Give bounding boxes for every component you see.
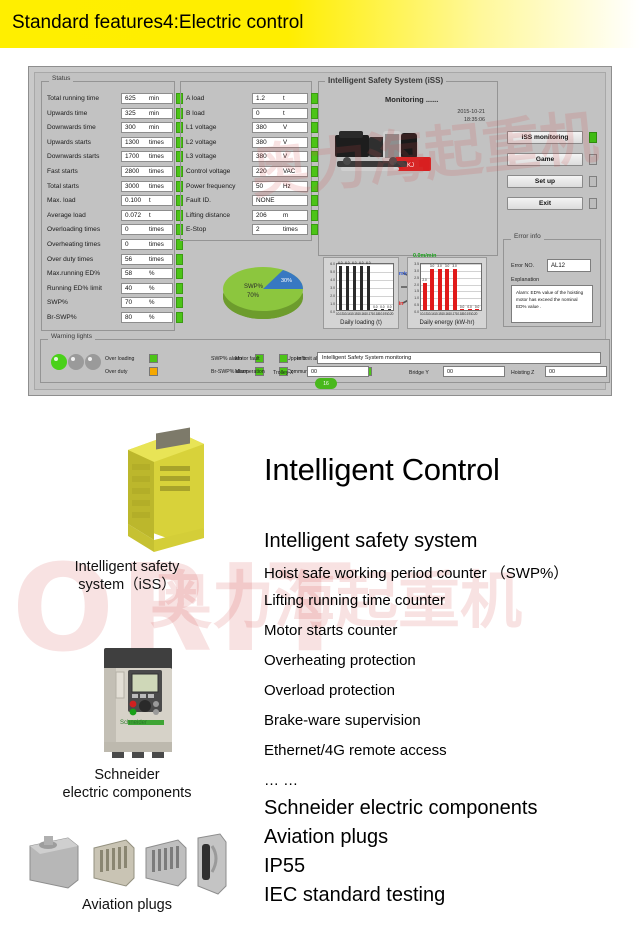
electrical-row: Fault ID.NONE bbox=[186, 193, 318, 208]
y-axis-tick: 2.0 bbox=[326, 294, 335, 298]
status-row-value: 3000 bbox=[122, 183, 139, 190]
status-row: Total running time625min bbox=[47, 91, 183, 106]
status-row-value: 58 bbox=[122, 270, 132, 277]
status-row: Total starts3000times bbox=[47, 179, 183, 194]
status-row-unit: min bbox=[149, 124, 159, 131]
iss-module-image bbox=[108, 420, 218, 565]
electrical-row: Lifting distance206m bbox=[186, 208, 318, 223]
bar: 0.0 bbox=[468, 309, 472, 310]
bar: 3.0 bbox=[430, 269, 434, 310]
daily-loading-plot: 6.05.04.03.02.01.00.06.06.06.06.06.00.00… bbox=[336, 263, 394, 311]
status-row-label: Running ED% limit bbox=[47, 285, 121, 292]
electrical-row-label: A load bbox=[186, 95, 252, 102]
y-axis-tick: 0.0 bbox=[410, 310, 419, 314]
y-axis-tick: 1.0 bbox=[410, 296, 419, 300]
bar-value-label: 0.0 bbox=[475, 305, 479, 309]
electrical-row-label: E-Stop bbox=[186, 226, 252, 233]
y-axis-tick: 3.0 bbox=[410, 269, 419, 273]
status-row-label: Overloading times bbox=[47, 226, 121, 233]
status-row: Downwards starts1700times bbox=[47, 149, 183, 164]
status-row-value: 1300 bbox=[122, 139, 139, 146]
status-row-field[interactable]: 0.100t bbox=[121, 195, 173, 206]
daily-loading-chart: 6.05.04.03.02.01.00.06.06.06.06.06.00.00… bbox=[323, 257, 399, 329]
iss-button-led bbox=[589, 154, 597, 165]
feature-item: … … bbox=[264, 772, 298, 789]
status-row-unit: t bbox=[149, 212, 151, 219]
status-pill: 16 bbox=[315, 378, 337, 389]
electrical-row-unit: times bbox=[283, 226, 298, 233]
status-row: Max.running ED%58% bbox=[47, 266, 183, 281]
y-axis-tick: 2.5 bbox=[410, 276, 419, 280]
iss-button-led bbox=[589, 176, 597, 187]
electrical-row-led bbox=[311, 93, 318, 104]
status-row-led bbox=[176, 283, 183, 294]
bar-value-label: 3.0 bbox=[445, 264, 449, 268]
status-row-field[interactable]: 3000times bbox=[121, 181, 173, 192]
bar: 0.0 bbox=[460, 309, 464, 310]
electrical-row-led bbox=[311, 210, 318, 221]
aviation-plugs-image bbox=[22, 828, 232, 900]
electrical-row: L2 voltage380V bbox=[186, 135, 318, 150]
coordinate-field[interactable]: 00 bbox=[443, 366, 505, 377]
coordinate-label: Hoisting Z bbox=[511, 370, 534, 376]
status-row: Br-SWP%80% bbox=[47, 310, 183, 325]
status-row-label: Average load bbox=[47, 212, 121, 219]
daily-loading-xticks: 10-1310-1410-1510-1610-1710-1810-1910-20 bbox=[336, 312, 393, 316]
status-row-label: SWP% bbox=[47, 299, 121, 306]
y-axis-tick: 3.0 bbox=[326, 286, 335, 290]
electrical-row-unit: VAC bbox=[283, 168, 295, 175]
y-axis-tick: 0.0 bbox=[326, 310, 335, 314]
bar: 3.0 bbox=[445, 269, 449, 310]
status-row-label: Downwards time bbox=[47, 124, 121, 131]
electrical-row-label: Control voltage bbox=[186, 168, 252, 175]
hmi-screenshot-panel: Status Total running time625minUpwards t… bbox=[28, 66, 612, 396]
electrical-row-label: B load bbox=[186, 110, 252, 117]
error-no-label: Error NO. bbox=[511, 263, 534, 269]
closing-item: Aviation plugs bbox=[264, 826, 388, 849]
status-row-field[interactable]: 325min bbox=[121, 108, 173, 119]
status-row-value: 0.100 bbox=[122, 197, 141, 204]
bar: 6.0 bbox=[353, 266, 357, 310]
svg-text:70%: 70% bbox=[247, 293, 260, 299]
bar-value-label: 3.0 bbox=[430, 264, 434, 268]
status-row-value: 625 bbox=[122, 95, 136, 102]
electrical-row-label: Lifting distance bbox=[186, 212, 252, 219]
status-row-field[interactable]: 56times bbox=[121, 254, 173, 265]
electrical-row-led bbox=[311, 181, 318, 192]
feature-item: Lifting running time counter bbox=[264, 592, 445, 609]
feature-item: Overheating protection bbox=[264, 652, 416, 669]
status-row: Upwards time325min bbox=[47, 106, 183, 121]
warning-indicator-led bbox=[279, 354, 288, 363]
status-row-unit: times bbox=[149, 226, 164, 233]
electrical-row-value: 1.2 bbox=[253, 95, 265, 102]
warning-lamp bbox=[68, 354, 84, 370]
status-row-value: 1700 bbox=[122, 153, 139, 160]
bar-value-label: 0.0 bbox=[460, 305, 464, 309]
warning-indicator-label: Motor fault bbox=[235, 356, 260, 362]
svg-text:KJ: KJ bbox=[407, 163, 414, 169]
status-row-field[interactable]: 40% bbox=[121, 283, 173, 294]
warning-lights-bar: Warning lights Over loadingOver dutySWP%… bbox=[40, 339, 610, 383]
status-row-label: Over duty times bbox=[47, 256, 121, 263]
status-row-value: 2800 bbox=[122, 168, 139, 175]
bar: 6.0 bbox=[360, 266, 364, 310]
status-row-label: Max. load bbox=[47, 197, 121, 204]
electrical-row-unit: V bbox=[283, 124, 287, 131]
warning-indicator-led bbox=[149, 367, 158, 376]
closing-item: IP55 bbox=[264, 855, 305, 878]
iss-button-led bbox=[589, 198, 597, 209]
svg-text:30%: 30% bbox=[281, 278, 292, 284]
status-row-led bbox=[176, 312, 183, 323]
bar: 6.0 bbox=[367, 266, 371, 310]
schneider-caption-line1: Schneider bbox=[22, 766, 232, 784]
warning-indicator-label: Misoperation bbox=[235, 369, 265, 375]
schneider-vfd-image: Schneider bbox=[98, 642, 184, 760]
closing-item: IEC standard testing bbox=[264, 884, 445, 907]
y-axis-tick: 5.0 bbox=[326, 270, 335, 274]
iss-caption-line1: Intelligent safety bbox=[22, 558, 232, 576]
status-row-value: 0 bbox=[122, 241, 129, 248]
swp-pie-chart: SWP% 70% 30% bbox=[211, 255, 315, 327]
iss-button-iss-monitoring[interactable]: iSS monitoring bbox=[507, 131, 583, 144]
iss-title: Intelligent Safety System (iSS) bbox=[325, 76, 446, 85]
electrical-row-label: Fault ID. bbox=[186, 197, 252, 204]
electrical-row-value: 380 bbox=[253, 153, 267, 160]
electrical-row-led bbox=[311, 166, 318, 177]
error-explanation-text: Alarm: ED% value of the hoisting motor h… bbox=[511, 285, 593, 323]
iss-button-led bbox=[589, 132, 597, 143]
status-row-label: Fast starts bbox=[47, 168, 121, 175]
y-axis-tick: 1.5 bbox=[410, 289, 419, 293]
warning-indicator-led bbox=[149, 354, 158, 363]
status-row-label: Max.running ED% bbox=[47, 270, 121, 277]
electrical-row-led bbox=[311, 122, 318, 133]
bar-value-label: 3.0 bbox=[437, 264, 441, 268]
bar-value-label: 6.0 bbox=[338, 261, 342, 265]
electrical-row-field[interactable]: 2times bbox=[252, 224, 308, 235]
electrical-row-label: Power frequency bbox=[186, 183, 252, 190]
status-row-value: 0 bbox=[122, 226, 129, 233]
status-row-unit: times bbox=[149, 168, 164, 175]
coordinate-label: Trolley X bbox=[273, 370, 293, 376]
status-row-field[interactable]: 0times bbox=[121, 224, 173, 235]
status-row-field[interactable]: 1300times bbox=[121, 137, 173, 148]
feature-item: Ethernet/4G remote access bbox=[264, 742, 447, 759]
electrical-row-field[interactable]: 380V bbox=[252, 151, 308, 162]
iss-date: 2015-10-21 bbox=[415, 109, 485, 115]
electrical-row-value: 220 bbox=[253, 168, 267, 175]
iss-caption: Intelligent safety system（iSS） bbox=[22, 558, 232, 594]
electrical-row-unit: t bbox=[283, 95, 285, 102]
feature-item: Motor starts counter bbox=[264, 622, 397, 639]
status-row-unit: times bbox=[149, 139, 164, 146]
bar-value-label: 6.0 bbox=[352, 261, 356, 265]
status-row-unit: t bbox=[149, 197, 151, 204]
electrical-row-field[interactable]: 206m bbox=[252, 210, 308, 221]
bar: 6.0 bbox=[346, 266, 350, 310]
status-row-led bbox=[176, 297, 183, 308]
iss-button-game[interactable]: Game bbox=[507, 153, 583, 166]
aviation-plugs-caption-line1: Aviation plugs bbox=[22, 896, 232, 914]
electrical-row: Control voltage220VAC bbox=[186, 164, 318, 179]
status-row-field[interactable]: 0times bbox=[121, 239, 173, 250]
status-row-value: 325 bbox=[122, 110, 136, 117]
electrical-row-label: L1 voltage bbox=[186, 124, 252, 131]
electrical-row-value: 380 bbox=[253, 124, 267, 131]
y-axis-tick: 1.0 bbox=[326, 302, 335, 306]
status-row-value: 56 bbox=[122, 256, 132, 263]
svg-text:Schneider: Schneider bbox=[120, 720, 147, 726]
coordinate-label: Bridge Y bbox=[409, 370, 429, 376]
status-row-label: Total running time bbox=[47, 95, 121, 102]
status-row-unit: times bbox=[149, 256, 164, 263]
bar: 0.0 bbox=[374, 309, 378, 310]
bar: 2.0 bbox=[423, 283, 427, 310]
bar: 0.0 bbox=[475, 309, 479, 310]
status-row-unit: % bbox=[149, 299, 155, 306]
status-row: Overloading times0times bbox=[47, 222, 183, 237]
bar: 0.0 bbox=[388, 309, 392, 310]
daily-energy-caption: Daily energy (kW-hr) bbox=[408, 320, 486, 326]
electrical-row-led bbox=[311, 137, 318, 148]
status-row-value: 40 bbox=[122, 285, 132, 292]
title-banner: Standard features4:Electric control bbox=[0, 0, 640, 48]
status-row-label: Br-SWP% bbox=[47, 314, 121, 321]
bar-value-label: 6.0 bbox=[345, 261, 349, 265]
status-row: Average load0.072t bbox=[47, 208, 183, 223]
bar-value-label: 0.0 bbox=[387, 305, 391, 309]
electrical-row-field[interactable]: 0t bbox=[252, 108, 308, 119]
electrical-row-value: NONE bbox=[253, 197, 274, 204]
warning-indicator-label: Over duty bbox=[105, 369, 128, 375]
status-row-unit: times bbox=[149, 153, 164, 160]
status-row-unit: % bbox=[149, 285, 155, 292]
y-axis-tick: 6.0 bbox=[326, 262, 335, 266]
status-row-field[interactable]: 0.072t bbox=[121, 210, 173, 221]
status-row: Upwards starts1300times bbox=[47, 135, 183, 150]
status-row-field[interactable]: 2800times bbox=[121, 166, 173, 177]
coordinate-field[interactable]: 00 bbox=[307, 366, 369, 377]
electrical-row-unit: m bbox=[283, 212, 288, 219]
status-row-value: 300 bbox=[122, 124, 136, 131]
error-explanation-label: Explanation bbox=[511, 277, 539, 283]
status-row-unit: % bbox=[149, 270, 155, 277]
electrical-row-unit: V bbox=[283, 139, 287, 146]
electrical-row-field[interactable]: 50Hz bbox=[252, 181, 308, 192]
content-heading: Intelligent Control bbox=[264, 452, 500, 488]
status-row-label: Upwards time bbox=[47, 110, 121, 117]
electrical-row: A load1.2t bbox=[186, 91, 318, 106]
daily-energy-plot: 3.53.02.52.01.51.00.50.02.03.03.03.03.00… bbox=[420, 263, 482, 311]
closing-item: Schneider electric components bbox=[264, 797, 537, 820]
feature-item: Brake-ware supervision bbox=[264, 712, 421, 729]
feature-item: Hoist safe working period counter （SWP%） bbox=[264, 562, 568, 583]
electrical-row-led bbox=[311, 224, 318, 235]
status-row-unit: min bbox=[149, 95, 159, 102]
schneider-caption: Schneider electric components bbox=[22, 766, 232, 802]
svg-text:SWP%: SWP% bbox=[244, 284, 264, 290]
bar-value-label: 3.0 bbox=[452, 264, 456, 268]
electrical-row: Power frequency50Hz bbox=[186, 179, 318, 194]
electrical-row-led bbox=[311, 108, 318, 119]
status-row: SWP%70% bbox=[47, 295, 183, 310]
iss-caption-line2: system（iSS） bbox=[22, 576, 232, 594]
electrical-row: B load0t bbox=[186, 106, 318, 121]
bar: 3.0 bbox=[453, 269, 457, 310]
status-row-label: Upwards starts bbox=[47, 139, 121, 146]
warning-lamp bbox=[51, 354, 67, 370]
daily-energy-chart: 3.53.02.52.01.51.00.50.02.03.03.03.03.00… bbox=[407, 257, 487, 329]
y-axis-tick: 0.5 bbox=[410, 303, 419, 307]
status-row-value: 0.072 bbox=[122, 212, 141, 219]
electrical-row-label: L3 voltage bbox=[186, 153, 252, 160]
status-row-unit: min bbox=[149, 110, 159, 117]
bar: 0.0 bbox=[381, 309, 385, 310]
electrical-row-unit: t bbox=[283, 110, 285, 117]
status-row-unit: % bbox=[149, 314, 155, 321]
warning-lights-legend: Warning lights bbox=[48, 333, 95, 340]
bar: 6.0 bbox=[339, 266, 343, 310]
section-title: Intelligent safety system bbox=[264, 530, 477, 553]
electrical-row-value: 380 bbox=[253, 139, 267, 146]
status-row-field[interactable]: 80% bbox=[121, 312, 173, 323]
status-row: Downwards time300min bbox=[47, 120, 183, 135]
daily-energy-xticks: 10-1310-1410-1510-1610-1710-1810-1910-20 bbox=[420, 312, 477, 316]
status-row: Over duty times56times bbox=[47, 252, 183, 267]
error-no-value[interactable]: AL12 bbox=[547, 259, 591, 272]
bar-value-label: 0.0 bbox=[373, 305, 377, 309]
coordinate-field[interactable]: 00 bbox=[545, 366, 607, 377]
electrical-row-unit: Hz bbox=[283, 183, 291, 190]
bar-value-label: 0.0 bbox=[467, 305, 471, 309]
y-axis-tick: 3.5 bbox=[410, 262, 419, 266]
info-value-field[interactable]: Intelligent Safety System monitoring bbox=[317, 352, 601, 364]
status-row-field[interactable]: 58% bbox=[121, 268, 173, 279]
status-row-value: 80 bbox=[122, 314, 132, 321]
electrical-row-value: 0 bbox=[253, 110, 260, 117]
electrical-row-field[interactable]: 220VAC bbox=[252, 166, 308, 177]
electrical-row: L3 voltage380V bbox=[186, 149, 318, 164]
iss-button-set-up[interactable]: Set up bbox=[507, 175, 583, 188]
electrical-row-led bbox=[311, 151, 318, 162]
iss-button-exit[interactable]: Exit bbox=[507, 197, 583, 210]
status-row: Running ED% limit40% bbox=[47, 281, 183, 296]
hmi-inner-frame: Status Total running time625minUpwards t… bbox=[34, 72, 606, 390]
error-info-legend: Error info bbox=[511, 233, 544, 240]
schneider-caption-line2: electric components bbox=[22, 784, 232, 802]
status-row-label: Total starts bbox=[47, 183, 121, 190]
status-row-field[interactable]: 300min bbox=[121, 122, 173, 133]
warning-indicator-label: Over loading bbox=[105, 356, 134, 362]
status-row: Fast starts2800times bbox=[47, 164, 183, 179]
status-row-field[interactable]: 70% bbox=[121, 297, 173, 308]
page-title: Standard features4:Electric control bbox=[12, 12, 304, 34]
electrical-row: E-Stop2times bbox=[186, 222, 318, 237]
electrical-row-value: 206 bbox=[253, 212, 267, 219]
status-row-field[interactable]: 625min bbox=[121, 93, 173, 104]
status-row-led bbox=[176, 254, 183, 265]
electrical-row-field[interactable]: 1.2t bbox=[252, 93, 308, 104]
bar-value-label: 6.0 bbox=[359, 261, 363, 265]
hoist-illustration: KJ bbox=[327, 121, 467, 193]
status-row: Max. load0.100t bbox=[47, 193, 183, 208]
status-row-unit: times bbox=[149, 241, 164, 248]
electrical-row-led bbox=[311, 195, 318, 206]
y-axis-tick: 2.0 bbox=[410, 283, 419, 287]
electrical-row-value: 50 bbox=[253, 183, 263, 190]
y-axis-tick: 4.0 bbox=[326, 278, 335, 282]
electrical-row: L1 voltage380V bbox=[186, 120, 318, 135]
electrical-row-field[interactable]: 380V bbox=[252, 137, 308, 148]
electrical-row-field[interactable]: NONE bbox=[252, 195, 308, 206]
aviation-plugs-caption: Aviation plugs bbox=[22, 896, 232, 914]
feature-item: Overload protection bbox=[264, 682, 395, 699]
iss-monitoring-status: Monitoring ...... bbox=[385, 95, 438, 104]
status-row-unit: times bbox=[149, 183, 164, 190]
bar-value-label: 0.0 bbox=[380, 305, 384, 309]
electrical-row-unit: V bbox=[283, 153, 287, 160]
electrical-row-value: 2 bbox=[253, 226, 260, 233]
electrical-row-field[interactable]: 380V bbox=[252, 122, 308, 133]
bar-value-label: 6.0 bbox=[366, 261, 370, 265]
info-label: Info. bbox=[297, 356, 307, 362]
status-row-label: Downwards starts bbox=[47, 153, 121, 160]
bar-value-label: 2.0 bbox=[422, 278, 426, 282]
daily-loading-caption: Daily loading (t) bbox=[324, 320, 398, 326]
status-row: Overheating times0times bbox=[47, 237, 183, 252]
status-group-legend: Status bbox=[49, 75, 73, 82]
bar: 3.0 bbox=[438, 269, 442, 310]
status-row-value: 70 bbox=[122, 299, 132, 306]
status-row-label: Overheating times bbox=[47, 241, 121, 248]
status-row-led bbox=[176, 268, 183, 279]
electrical-row-label: L2 voltage bbox=[186, 139, 252, 146]
warning-lamp bbox=[85, 354, 101, 370]
status-row-field[interactable]: 1700times bbox=[121, 151, 173, 162]
